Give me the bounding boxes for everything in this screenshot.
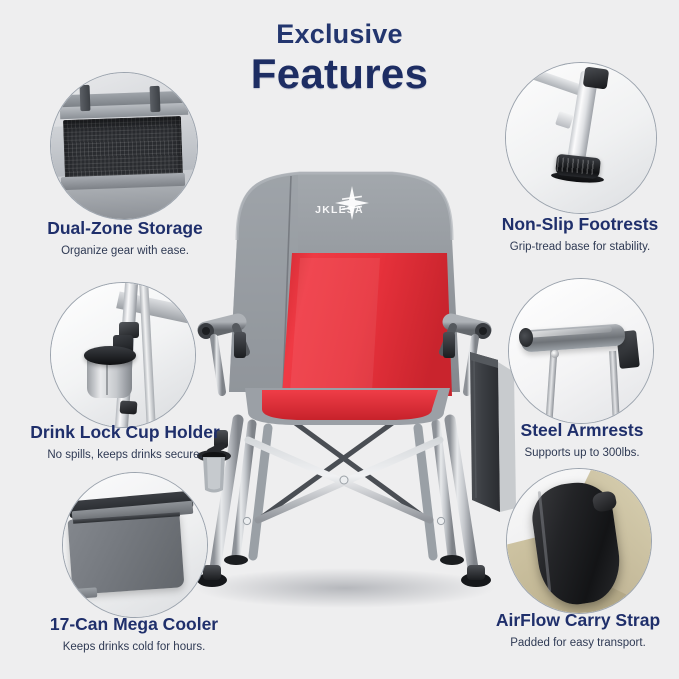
feature-title-airflow-carry-strap: AirFlow Carry Strap (470, 610, 679, 631)
feature-subtitle-mega-cooler: Keeps drinks cold for hours. (22, 639, 246, 655)
feature-title-non-slip-footrests: Non-Slip Footrests (478, 214, 679, 235)
drink-lock-cup-holder-inset-image (50, 282, 196, 428)
steel-armrests-inset-image (508, 278, 654, 424)
infographic-page: Exclusive Features (0, 0, 679, 679)
feature-title-drink-lock-cup-holder: Drink Lock Cup Holder (0, 422, 250, 443)
feature-subtitle-steel-armrests: Supports up to 300lbs. (484, 445, 679, 461)
feature-subtitle-drink-lock-cup-holder: No spills, keeps drinks secure. (0, 447, 250, 463)
feature-subtitle-dual-zone-storage: Organize gear with ease. (20, 243, 230, 259)
feature-title-mega-cooler: 17-Can Mega Cooler (22, 614, 246, 635)
feature-subtitle-non-slip-footrests: Grip-tread base for stability. (478, 239, 679, 255)
feature-subtitle-airflow-carry-strap: Padded for easy transport. (470, 635, 679, 651)
airflow-carry-strap-inset-image (506, 468, 652, 614)
feature-title-steel-armrests: Steel Armrests (484, 420, 679, 441)
feature-title-dual-zone-storage: Dual-Zone Storage (20, 218, 230, 239)
title-line-features: Features (0, 50, 679, 97)
title-line-exclusive: Exclusive (0, 18, 679, 50)
page-title: Exclusive Features (0, 18, 679, 97)
mega-cooler-inset-image (62, 472, 208, 618)
